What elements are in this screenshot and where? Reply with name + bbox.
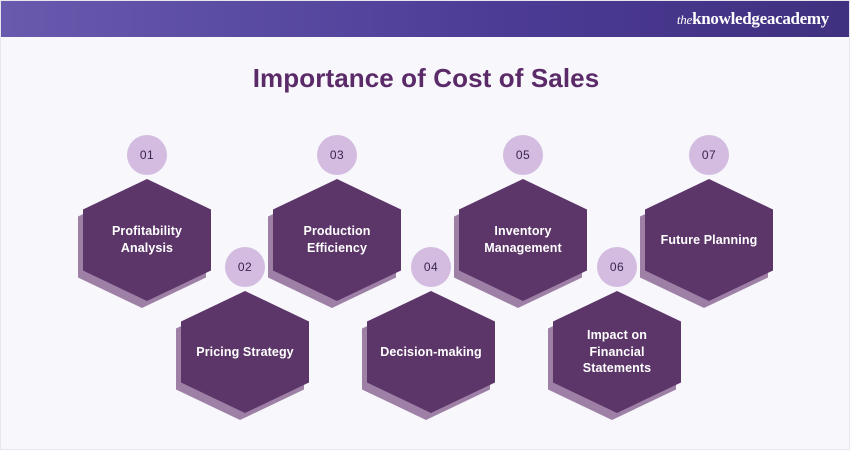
number-badge: 02 (225, 247, 265, 287)
number-badge-text: 02 (238, 260, 252, 274)
number-badge: 07 (689, 135, 729, 175)
brand-logo-name: knowledgeacademy (692, 9, 829, 29)
number-badge-text: 01 (140, 148, 154, 162)
hexagon-label: Pricing Strategy (184, 344, 305, 361)
hexagon-label: Profitability Analysis (100, 223, 194, 257)
hexagon-label: Future Planning (649, 232, 770, 249)
brand-logo-prefix: the (677, 12, 692, 28)
number-badge-text: 04 (424, 260, 438, 274)
hexagon-label: Decision-making (368, 344, 494, 361)
number-badge: 05 (503, 135, 543, 175)
header-bar: theknowledgeacademy (1, 1, 850, 37)
brand-logo: theknowledgeacademy (677, 9, 829, 29)
number-badge: 01 (127, 135, 167, 175)
number-badge-text: 06 (610, 260, 624, 274)
number-badge: 06 (597, 247, 637, 287)
infographic-page: theknowledgeacademy Importance of Cost o… (0, 0, 850, 450)
page-title: Importance of Cost of Sales (1, 63, 850, 94)
hexagon-label: Impact on Financial Statements (571, 327, 663, 378)
hexagon-diagram: Profitability Analysis 01 Pricing Strate… (1, 111, 850, 411)
diagram-node-07[interactable]: Future Planning 07 (645, 135, 773, 295)
number-badge-text: 05 (516, 148, 530, 162)
number-badge-text: 03 (330, 148, 344, 162)
number-badge-text: 07 (702, 148, 716, 162)
number-badge: 04 (411, 247, 451, 287)
number-badge: 03 (317, 135, 357, 175)
